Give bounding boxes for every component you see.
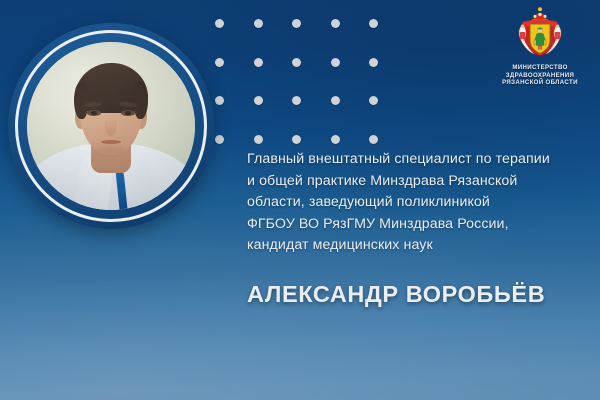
grid-dot — [215, 135, 224, 144]
grid-dot — [254, 58, 263, 67]
grid-dot — [215, 58, 224, 67]
grid-dot — [369, 135, 378, 144]
photo-vignette — [27, 42, 195, 210]
grid-dot — [215, 19, 224, 28]
grid-dot — [292, 19, 301, 28]
grid-dot — [292, 96, 301, 105]
grid-dot — [215, 96, 224, 105]
dot-grid-decoration — [215, 19, 385, 149]
grid-dot — [331, 58, 340, 67]
ministry-caption-line-1: МИНИСТЕРСТВО — [488, 64, 592, 72]
grid-dot — [369, 19, 378, 28]
person-description: Главный внештатный специалист по терапии… — [247, 149, 577, 257]
grid-dot — [292, 135, 301, 144]
grid-dot — [331, 96, 340, 105]
grid-dot — [331, 135, 340, 144]
description-line-1: Главный внештатный специалист по терапии — [247, 149, 577, 171]
grid-dot — [254, 96, 263, 105]
ministry-logo: МИНИСТЕРСТВОЗДРАВООХРАНЕНИЯРЯЗАНСКОЙ ОБЛ… — [488, 6, 592, 87]
person-name: АЛЕКСАНДР ВОРОБЬЁВ — [247, 281, 545, 308]
portrait-photo — [27, 42, 195, 210]
grid-dot — [369, 96, 378, 105]
ministry-caption: МИНИСТЕРСТВОЗДРАВООХРАНЕНИЯРЯЗАНСКОЙ ОБЛ… — [488, 64, 592, 87]
coat-of-arms-ryazan-oblast-icon — [509, 6, 571, 62]
description-line-3: области, заведующий поликлиникой — [247, 192, 577, 214]
description-line-4: ФГБОУ ВО РязГМУ Минздрава России, — [247, 214, 577, 236]
grid-dot — [369, 58, 378, 67]
grid-dot — [292, 58, 301, 67]
grid-dot — [254, 135, 263, 144]
grid-dot — [331, 19, 340, 28]
description-line-5: кандидат медицинских наук — [247, 235, 577, 257]
ministry-caption-line-3: РЯЗАНСКОЙ ОБЛАСТИ — [488, 79, 592, 87]
portrait — [8, 23, 214, 229]
presentation-card: Главный внештатный специалист по терапии… — [0, 0, 600, 400]
grid-dot — [254, 19, 263, 28]
description-line-2: и общей практике Минздрава Рязанской — [247, 171, 577, 193]
